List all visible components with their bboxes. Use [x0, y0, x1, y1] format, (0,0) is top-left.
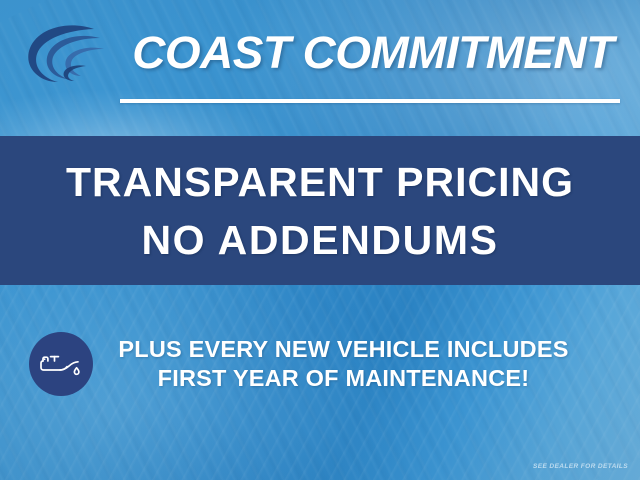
header-divider [120, 99, 620, 103]
coast-commitment-banner: COAST COMMITMENT TRANSPARENT PRICING NO … [0, 0, 640, 480]
headline-line-2: NO ADDENDUMS [141, 211, 498, 269]
oil-can-icon [39, 349, 83, 379]
promo-text-block: PLUS EVERY NEW VEHICLE INCLUDES FIRST YE… [93, 335, 640, 393]
promo-line-2: FIRST YEAR OF MAINTENANCE! [93, 364, 594, 393]
coast-wave-logo-icon [24, 22, 110, 88]
brand-title: COAST COMMITMENT [113, 24, 633, 82]
promo-row: PLUS EVERY NEW VEHICLE INCLUDES FIRST YE… [0, 322, 640, 406]
fine-print-disclaimer: SEE DEALER FOR DETAILS [533, 463, 628, 470]
oil-can-badge [29, 332, 93, 396]
headline-line-1: TRANSPARENT PRICING [66, 153, 574, 211]
banner-header: COAST COMMITMENT [0, 0, 640, 136]
headline-band: TRANSPARENT PRICING NO ADDENDUMS [0, 136, 640, 285]
promo-line-1: PLUS EVERY NEW VEHICLE INCLUDES [93, 335, 594, 364]
